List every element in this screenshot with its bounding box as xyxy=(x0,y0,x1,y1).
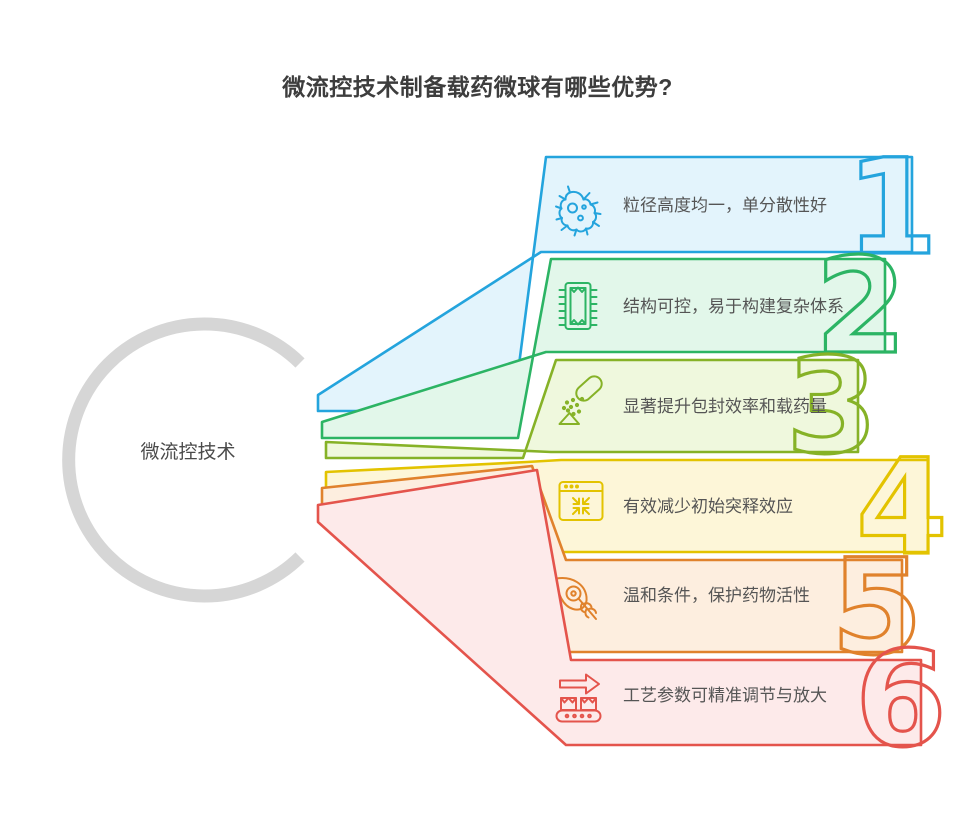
funnel-diagram: 微流控技术 1 xyxy=(0,0,955,817)
row-6-number-group: 6 xyxy=(855,623,947,777)
row-1-label: 粒径高度均一，单分散性好 xyxy=(623,196,827,215)
row-4-label: 有效减少初始突释效应 xyxy=(623,497,793,516)
center-ring-group: 微流控技术 xyxy=(69,324,300,596)
row-6-number: 6 xyxy=(855,623,947,777)
row-2-label: 结构可控，易于构建复杂体系 xyxy=(623,297,844,316)
infographic-canvas: 微流控技术制备载药微球有哪些优势? 微流控技术 1 xyxy=(0,0,955,817)
row-3-label: 显著提升包封效率和载药量 xyxy=(623,397,827,416)
row-5-label: 温和条件，保护药物活性 xyxy=(623,586,810,605)
center-label: 微流控技术 xyxy=(140,441,235,463)
row-6-label: 工艺参数可精准调节与放大 xyxy=(623,686,827,705)
